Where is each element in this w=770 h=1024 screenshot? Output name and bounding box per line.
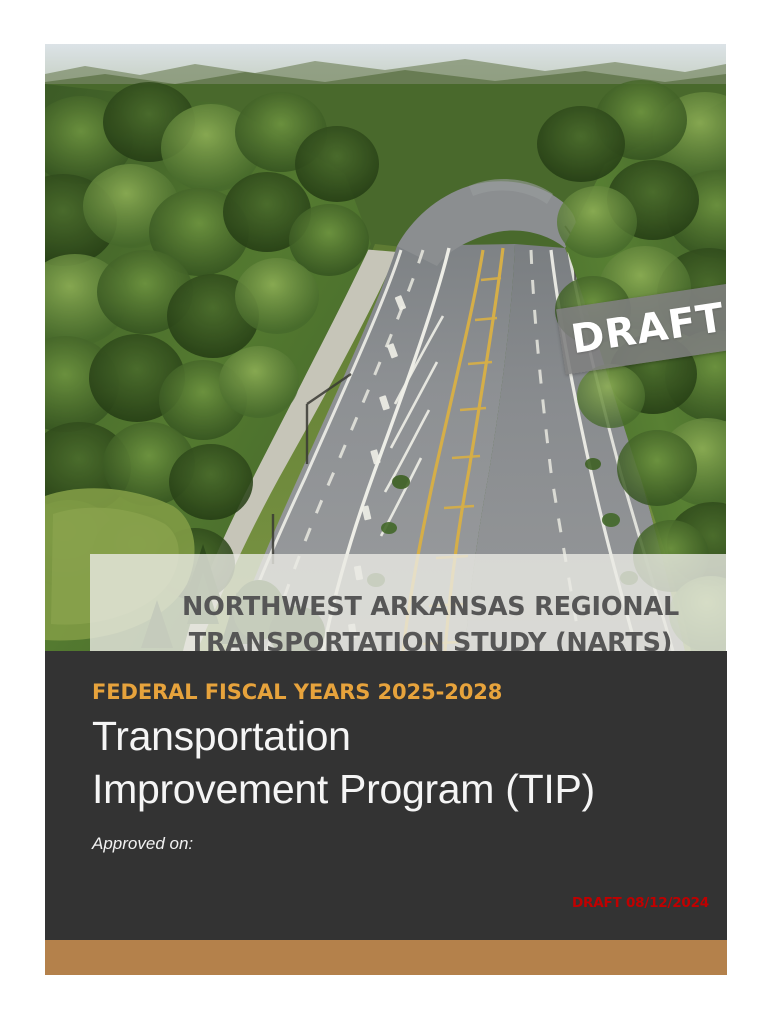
document-title-line-1: Transportation [92,710,683,762]
document-title: Transportation Improvement Program (TIP) [92,710,683,815]
approved-on-label: Approved on: [92,834,683,854]
bottom-accent-bar [45,940,727,975]
organization-line-1: NORTHWEST ARKANSAS REGIONAL [182,590,679,625]
document-title-line-2: Improvement Program (TIP) [92,763,683,815]
organization-title-band: NORTHWEST ARKANSAS REGIONAL TRANSPORTATI… [90,554,726,651]
organization-line-2: TRANSPORTATION STUDY (NARTS) [189,626,672,652]
document-cover-page: DRAFT NORTHWEST ARKANSAS REGIONAL TRANSP… [0,0,770,1024]
title-panel: FEDERAL FISCAL YEARS 2025-2028 Transport… [45,651,727,940]
cover-photo: DRAFT NORTHWEST ARKANSAS REGIONAL TRANSP… [45,44,726,651]
draft-watermark-text: DRAFT [569,298,726,360]
draft-date-stamp: DRAFT 08/12/2024 [572,895,709,911]
fiscal-years-label: FEDERAL FISCAL YEARS 2025-2028 [92,681,683,704]
